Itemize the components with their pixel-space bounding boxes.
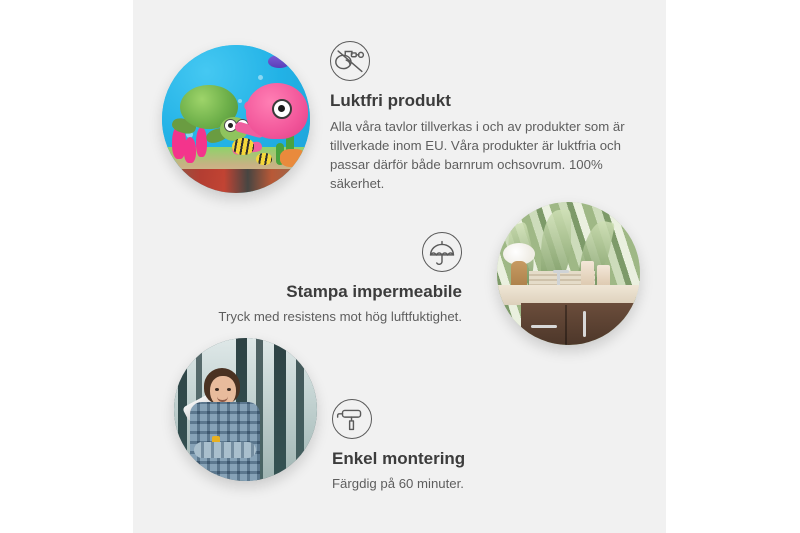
no-fragrance-icon xyxy=(330,41,370,81)
cabinet-seam xyxy=(565,305,567,345)
feature-waterproof-print: Stampa impermeabile Tryck med resistens … xyxy=(200,232,462,326)
image-underwater-scene xyxy=(162,45,310,193)
bottle-icon xyxy=(581,261,594,287)
bubble-icon xyxy=(258,75,263,80)
cabinet-handle xyxy=(583,311,586,337)
feature-description: Tryck med resistens mot hög luftfuktighe… xyxy=(200,307,462,326)
woman-eye xyxy=(215,388,219,391)
bathroom-cabinet xyxy=(521,303,640,345)
octopus-eye xyxy=(272,99,292,119)
coral-icon xyxy=(184,137,196,163)
sea-bottom-strip xyxy=(162,169,310,193)
image-woman-paint-roller xyxy=(174,338,317,481)
feature-title: Luktfri produkt xyxy=(330,90,630,112)
paint-roller-icon xyxy=(332,399,372,439)
bottle-icon xyxy=(597,265,610,287)
coral-icon xyxy=(196,127,207,157)
fish-yellow xyxy=(256,153,272,165)
feature-description: Färgdig på 60 minuter. xyxy=(332,474,612,493)
feature-title: Stampa impermeabile xyxy=(200,281,462,303)
woman-eye xyxy=(227,388,231,391)
bubble-icon xyxy=(238,99,242,103)
faucet-icon xyxy=(553,270,569,273)
feature-odour-free: Luktfri produkt Alla våra tavlor tillver… xyxy=(330,41,630,193)
feature-title: Enkel montering xyxy=(332,448,612,470)
promo-page: Luktfri produkt Alla våra tavlor tillver… xyxy=(0,0,800,533)
fish-blue xyxy=(268,55,290,68)
tree xyxy=(274,338,286,481)
woman-crossed-arms xyxy=(194,442,256,458)
starfish-icon xyxy=(280,149,306,167)
image-bathroom-wallpaper xyxy=(497,202,640,345)
umbrella-icon xyxy=(422,232,462,272)
fish-yellow xyxy=(232,138,254,155)
feature-description: Alla våra tavlor tillverkas i och av pro… xyxy=(330,117,630,193)
feature-easy-mounting: Enkel montering Färgdig på 60 minuter. xyxy=(332,399,612,493)
bathroom-countertop xyxy=(497,285,640,305)
tree xyxy=(296,338,304,481)
icon-wrapper xyxy=(200,232,462,281)
cabinet-handle xyxy=(531,325,557,328)
